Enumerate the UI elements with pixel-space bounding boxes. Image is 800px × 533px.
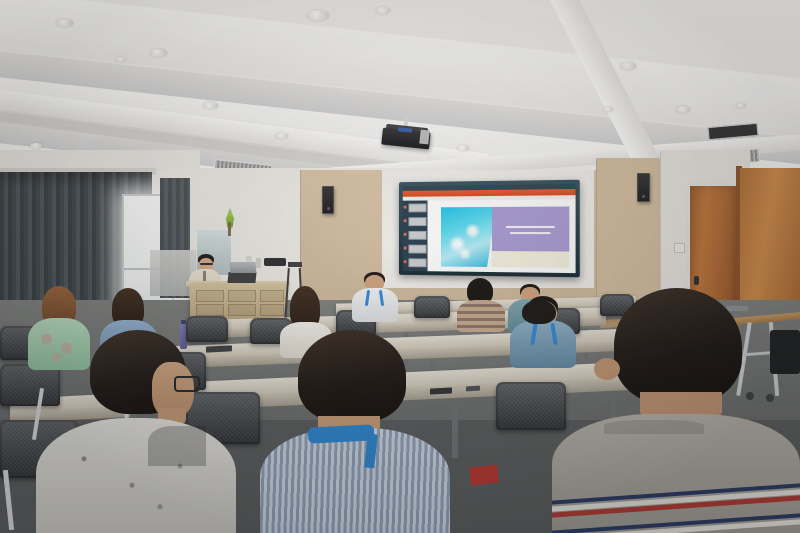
slide-title-line [506,226,555,228]
hair [522,300,556,324]
hair [614,288,742,404]
attendee-partial-right [500,300,570,372]
shirt-shoulder-stripe [148,426,206,466]
glasses [174,376,200,392]
slide-thumbnail-panel[interactable] [403,200,428,271]
wall-speaker-right [637,173,650,202]
slide-footer-band [492,251,569,268]
wall-speaker-left [322,186,334,214]
downlight-icon [276,133,288,139]
attendee-front-row-white [352,272,398,320]
attendee-front-right [552,288,800,533]
slide-photo [441,207,496,267]
slide-thumbnail[interactable] [408,203,426,212]
downlight-icon [30,143,43,149]
downlight-icon [376,7,390,14]
wall-outlet[interactable] [674,243,685,253]
downlight-icon [736,103,746,108]
downlight-icon [676,106,690,113]
slide-thumbnail[interactable] [408,245,426,254]
collar [604,420,704,434]
slide-thumbnail[interactable] [408,231,426,240]
downlight-icon [203,102,218,109]
presenter-glasses [200,263,213,265]
attendee-front-left [36,330,236,533]
slide-editing-stage[interactable] [428,199,576,273]
presentation-display[interactable] [403,184,576,273]
downlight-icon [457,145,469,151]
current-slide[interactable] [441,206,569,267]
downlight-icon [307,10,329,21]
downlight-icon [620,62,636,70]
laptop-screen[interactable] [230,262,257,273]
plant-stem [228,222,231,236]
av-equipment [288,262,302,267]
downlight-icon [56,19,73,27]
downlight-icon [603,107,613,112]
podium [190,284,286,320]
laptop-base[interactable] [227,272,256,283]
slide-thumbnail[interactable] [408,258,426,267]
hair [298,330,406,422]
slide-subtitle-line [510,232,551,234]
av-equipment [264,258,286,266]
slide-title-panel [492,206,569,251]
ceiling-projector [376,116,438,150]
red-folder[interactable] [469,465,499,486]
ear [594,358,620,380]
conference-room-photo [0,0,800,533]
shirt [457,300,505,332]
chair[interactable] [414,296,450,318]
projector-lens [419,130,429,145]
shirt [352,288,398,322]
device[interactable] [466,386,480,392]
slide-thumbnail[interactable] [408,217,426,226]
attendee-third-stripe [456,278,506,330]
downlight-icon [116,57,126,62]
door-handle[interactable] [694,276,699,285]
shirt [260,428,450,533]
shirt [36,418,236,533]
desk-item [256,258,261,268]
attendee-front-center [260,330,450,533]
downlight-icon [150,49,167,57]
